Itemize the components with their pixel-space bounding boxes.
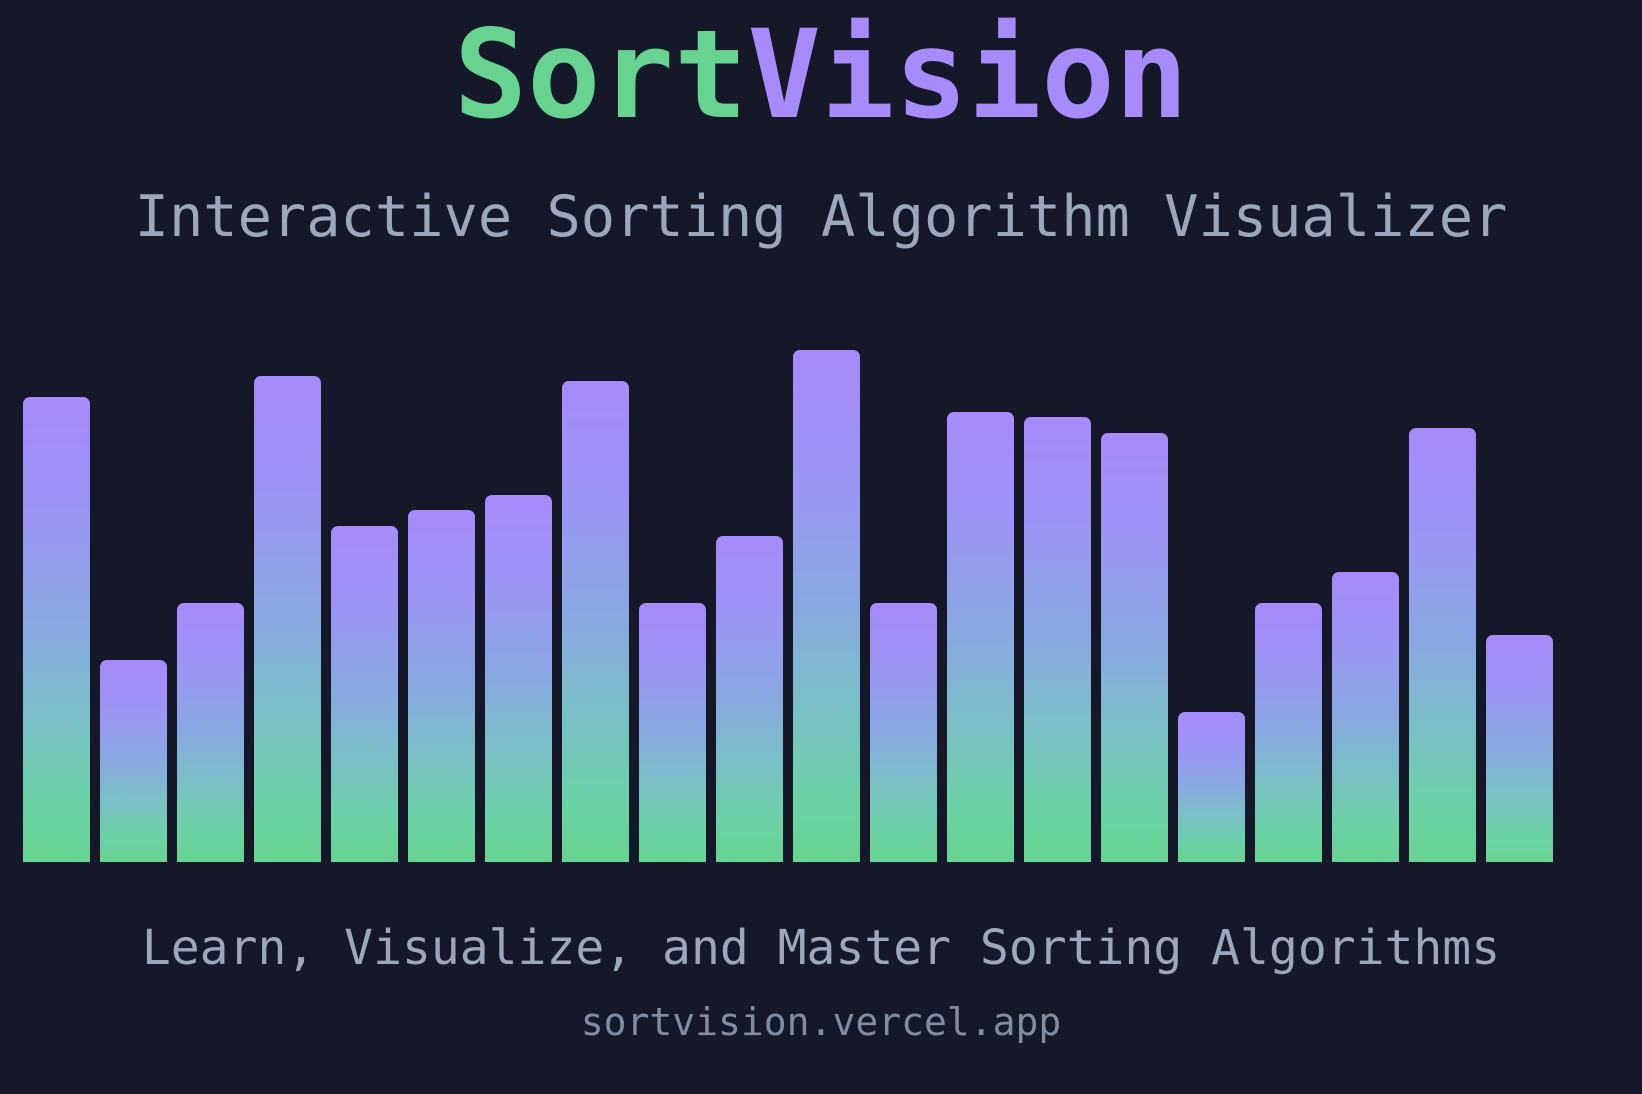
- chart-bar: [331, 526, 398, 862]
- chart-bar: [100, 660, 167, 862]
- footer-tagline: Learn, Visualize, and Master Sorting Alg…: [0, 920, 1642, 976]
- sortvision-promo-card: SortVision Interactive Sorting Algorithm…: [0, 0, 1642, 1094]
- bar-chart-visualization: [23, 345, 1619, 862]
- chart-bar: [177, 603, 244, 862]
- page-subtitle: Interactive Sorting Algorithm Visualizer: [0, 186, 1642, 249]
- chart-bar: [1409, 428, 1476, 862]
- chart-bar: [254, 376, 321, 862]
- chart-bar: [947, 412, 1014, 862]
- chart-bar: [1024, 417, 1091, 862]
- chart-bar: [23, 397, 90, 862]
- page-title: SortVision: [0, 14, 1642, 136]
- chart-bar: [639, 603, 706, 862]
- chart-bar: [1255, 603, 1322, 862]
- chart-bar: [1332, 572, 1399, 862]
- footer-site-url: sortvision.vercel.app: [0, 1000, 1642, 1044]
- chart-bar: [1486, 635, 1553, 862]
- chart-bar: [870, 603, 937, 862]
- brand-title: SortVision: [0, 14, 1642, 136]
- chart-bar: [485, 495, 552, 862]
- brand-title-sort: Sort: [454, 4, 748, 146]
- chart-bar: [1178, 712, 1245, 862]
- chart-bar: [1101, 433, 1168, 862]
- chart-bar: [408, 510, 475, 862]
- brand-title-vision: Vision: [748, 4, 1189, 146]
- chart-bar: [716, 536, 783, 862]
- chart-bar: [793, 350, 860, 862]
- chart-bar: [562, 381, 629, 862]
